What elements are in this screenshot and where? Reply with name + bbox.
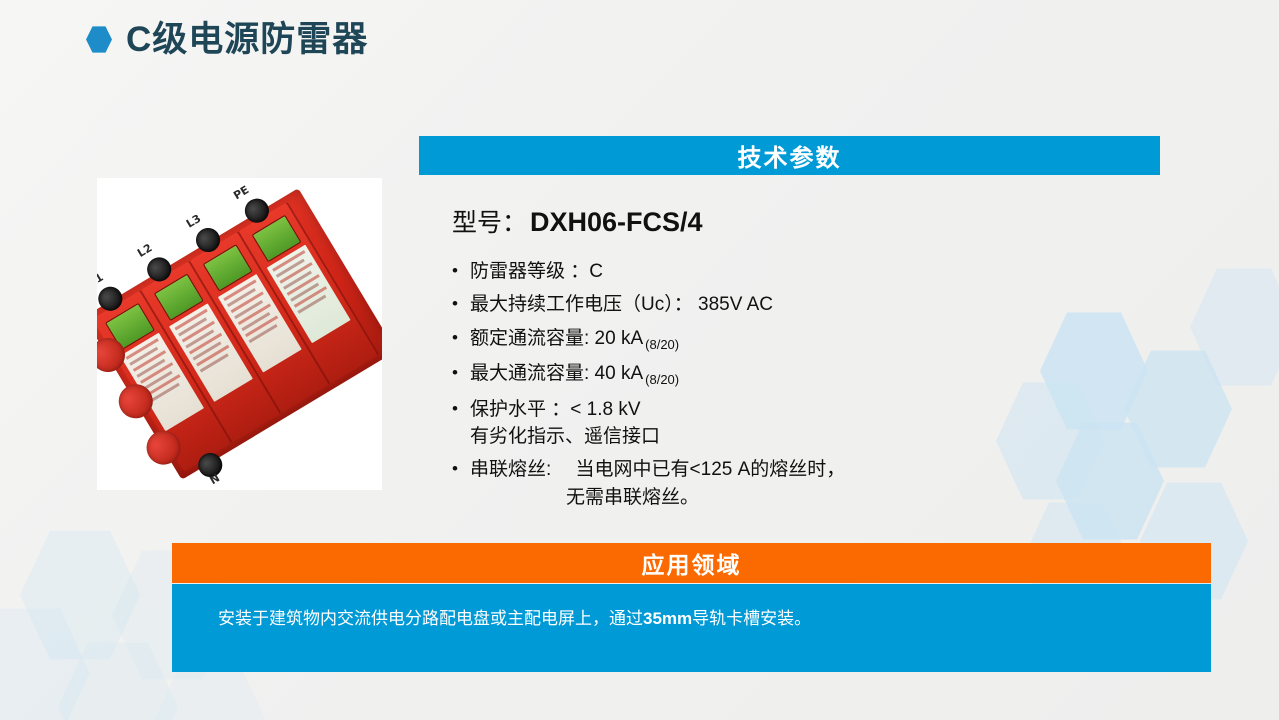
bullet-marker: • [452,396,470,422]
spec-extra-text: 有劣化指示、遥信接口 [470,423,1152,450]
bullet-marker: • [452,325,470,351]
model-line: 型号： DXH06-FCS/4 [452,203,703,239]
spec-list: • 防雷器等级 ：C • 最大持续工作电压（Uc）： 385V AC • 额定通… [452,258,1152,517]
page-title: C级电源防雷器 [126,22,368,57]
hexagon-decor-icon [1190,266,1279,388]
terminal-label-n: N [207,471,222,487]
application-text-after: 导轨卡槽安装。 [692,609,811,628]
spec-main-text: 串联熔丝: 当电网中已有<125 A的熔丝时， [470,456,1152,483]
model-label: 型号： [452,203,527,239]
spec-item: • 最大持续工作电压（Uc）： 385V AC [452,291,1152,318]
model-value: DXH06-FCS/4 [530,207,703,238]
spec-item: • 最大通流容量: 40 kA(8/20) [452,360,1152,390]
spec-main-text: 额定通流容量: 20 kA [470,328,643,349]
spec-subscript: (8/20) [645,337,679,352]
spec-item: • 额定通流容量: 20 kA(8/20) [452,325,1152,355]
bullet-marker: • [452,456,470,482]
hexagon-decor-icon [58,640,178,720]
application-text: 安装于建筑物内交流供电分路配电盘或主配电屏上，通过35mm导轨卡槽安装。 [218,604,811,629]
application-body: 安装于建筑物内交流供电分路配电盘或主配电屏上，通过35mm导轨卡槽安装。 [172,584,1211,672]
bullet-marker: • [452,360,470,386]
spec-main-text: 保护水平 ：< 1.8 kV [470,396,1152,423]
bullet-marker: • [452,291,470,317]
spec-text: 保护水平 ：< 1.8 kV 有劣化指示、遥信接口 [470,396,1152,451]
spec-main-text: 最大持续工作电压（Uc）： 385V AC [470,291,1152,318]
terminal-label-l2: L2 [135,241,154,260]
spec-extra-text: 无需串联熔丝。 [470,484,1152,511]
spec-text: 防雷器等级 ：C [470,258,1152,285]
application-header: 应用领域 [172,543,1211,583]
hexagon-decor-icon [20,528,140,662]
spec-main-text: 防雷器等级 ：C [470,258,1152,285]
terminal-label-l1: L1 [97,271,105,290]
spec-item: • 保护水平 ：< 1.8 kV 有劣化指示、遥信接口 [452,396,1152,451]
hexagon-icon [86,26,112,54]
spec-item: • 防雷器等级 ：C [452,258,1152,285]
terminal-label-l3: L3 [184,212,203,231]
spd-device-illustration: L1 L2 L3 PE N [97,188,382,480]
bullet-marker: • [452,258,470,284]
spec-text: 最大持续工作电压（Uc）： 385V AC [470,291,1152,318]
spec-subscript: (8/20) [645,372,679,387]
product-image: L1 L2 L3 PE N [97,178,382,490]
page-title-row: C级电源防雷器 [86,22,368,57]
terminal-label-pe: PE [231,183,251,202]
spec-text: 最大通流容量: 40 kA(8/20) [470,360,1152,390]
slide-canvas: C级电源防雷器 [0,0,1279,720]
spec-main-text: 最大通流容量: 40 kA [470,363,643,384]
application-text-before: 安装于建筑物内交流供电分路配电盘或主配电屏上，通过 [218,609,643,628]
hexagon-decor-icon [0,606,90,720]
application-text-bold: 35mm [643,609,692,628]
tech-params-header: 技术参数 [419,136,1160,175]
spec-text: 额定通流容量: 20 kA(8/20) [470,325,1152,355]
spec-text: 串联熔丝: 当电网中已有<125 A的熔丝时， 无需串联熔丝。 [470,456,1152,511]
spec-item: • 串联熔丝: 当电网中已有<125 A的熔丝时， 无需串联熔丝。 [452,456,1152,511]
